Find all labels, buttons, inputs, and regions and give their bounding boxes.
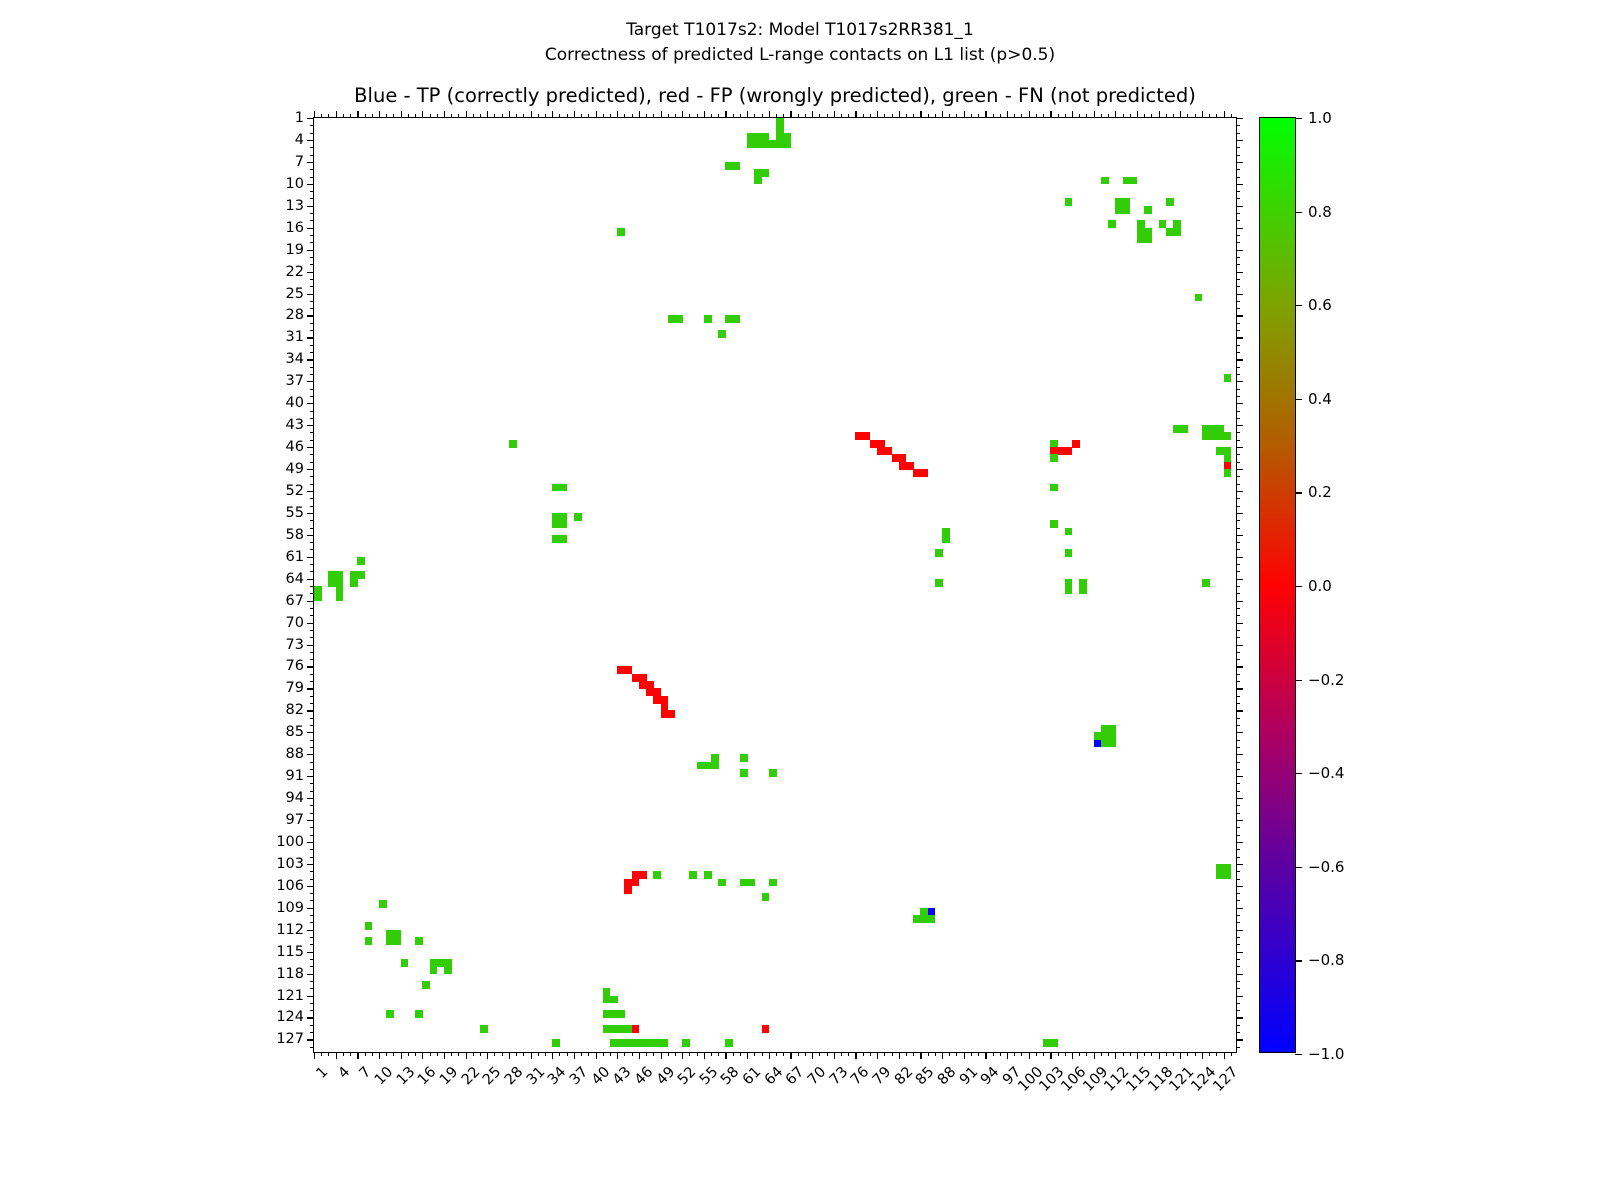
colorbar-tick-label: 0.4 — [1308, 390, 1332, 408]
heatmap-cell — [632, 879, 640, 887]
y-tick-label: 64 — [286, 571, 304, 587]
y-tick — [307, 842, 314, 843]
x-tick — [502, 1052, 503, 1056]
y-tick — [310, 1003, 314, 1004]
y-tick-right — [1236, 257, 1240, 258]
y-tick-right — [1236, 645, 1243, 646]
x-tick — [956, 1052, 957, 1056]
heatmap-cell — [365, 937, 373, 945]
y-tick-right — [1236, 981, 1240, 982]
heatmap-cell — [632, 1025, 640, 1033]
colorbar-tick — [1295, 680, 1302, 681]
heatmap-cell — [365, 922, 373, 930]
y-tick — [307, 118, 314, 119]
x-tick — [574, 1052, 575, 1059]
x-tick-top — [1101, 114, 1102, 118]
y-tick-right — [1236, 593, 1240, 594]
y-tick-label: 43 — [286, 417, 304, 433]
y-tick-right — [1236, 820, 1243, 821]
x-tick-top — [1058, 114, 1059, 118]
y-tick — [310, 659, 314, 660]
y-tick — [310, 177, 314, 178]
y-tick-label: 124 — [276, 1009, 304, 1025]
x-tick-top — [848, 114, 849, 118]
y-tick — [310, 133, 314, 134]
y-tick — [310, 257, 314, 258]
y-tick-right — [1236, 447, 1243, 448]
y-tick — [310, 703, 314, 704]
y-tick-label: 94 — [286, 790, 304, 806]
colorbar-tick — [1295, 399, 1302, 400]
heatmap-cell — [1050, 484, 1058, 492]
heatmap-cell — [769, 879, 777, 887]
y-tick — [310, 805, 314, 806]
x-tick-top — [740, 114, 741, 118]
y-tick — [307, 754, 314, 755]
x-tick — [928, 1052, 929, 1056]
heatmap-cell — [783, 140, 791, 148]
x-tick-top — [494, 114, 495, 118]
y-tick — [310, 849, 314, 850]
heatmap-cell — [1224, 374, 1232, 382]
y-tick — [310, 944, 314, 945]
heatmap-cell — [1224, 469, 1232, 477]
y-tick-right — [1236, 432, 1240, 433]
y-tick-right — [1236, 915, 1240, 916]
y-tick-right — [1236, 498, 1240, 499]
y-tick — [310, 235, 314, 236]
y-tick-right — [1236, 688, 1243, 689]
x-tick-top — [682, 111, 683, 118]
heatmap-cell — [689, 871, 697, 879]
y-tick-label: 19 — [286, 242, 304, 258]
y-tick-right — [1236, 330, 1240, 331]
y-tick — [307, 381, 314, 382]
x-tick-top — [1173, 114, 1174, 118]
heatmap-cell — [1065, 198, 1073, 206]
heatmap-cell — [1123, 206, 1131, 214]
x-tick-top — [379, 111, 380, 118]
x-tick-top — [1166, 114, 1167, 118]
y-tick-right — [1236, 922, 1240, 923]
x-tick — [314, 1052, 315, 1059]
y-tick — [307, 315, 314, 316]
heatmap-cell — [1144, 235, 1152, 243]
x-tick — [603, 1052, 604, 1056]
y-tick — [307, 184, 314, 185]
x-tick — [588, 1052, 589, 1056]
x-tick-top — [718, 114, 719, 118]
x-tick — [653, 1052, 654, 1056]
x-tick — [682, 1052, 683, 1059]
y-tick-label: 40 — [286, 395, 304, 411]
y-tick — [310, 1032, 314, 1033]
heatmap-cell — [415, 1010, 423, 1018]
heatmap-cell — [762, 1025, 770, 1033]
x-tick — [769, 1052, 770, 1059]
y-tick-label: 70 — [286, 615, 304, 631]
x-tick — [365, 1052, 366, 1056]
y-tick — [310, 696, 314, 697]
y-tick — [310, 242, 314, 243]
y-tick-right — [1236, 974, 1243, 975]
heatmap-cell — [1050, 1039, 1058, 1047]
x-tick — [1094, 1052, 1095, 1059]
x-tick — [935, 1052, 936, 1056]
x-tick — [1079, 1052, 1080, 1056]
y-tick-label: 109 — [276, 900, 304, 916]
y-tick-right — [1236, 1017, 1243, 1018]
x-tick — [740, 1052, 741, 1056]
x-tick-top — [523, 114, 524, 118]
x-tick — [812, 1052, 813, 1059]
x-tick — [1209, 1052, 1210, 1056]
colorbar-tick-label: 0.0 — [1308, 577, 1332, 595]
y-tick — [310, 783, 314, 784]
heatmap-cell — [704, 315, 712, 323]
heatmap-cell — [769, 769, 777, 777]
x-tick — [624, 1052, 625, 1056]
y-tick — [307, 930, 314, 931]
x-tick — [559, 1052, 560, 1056]
y-tick-right — [1236, 469, 1243, 470]
x-tick-label: 88 — [935, 1064, 959, 1088]
x-tick — [1007, 1052, 1008, 1059]
y-tick-label: 13 — [286, 198, 304, 214]
y-tick-right — [1236, 681, 1240, 682]
y-tick-right — [1236, 871, 1240, 872]
x-tick-top — [1014, 114, 1015, 118]
x-tick — [718, 1052, 719, 1056]
y-tick-right — [1236, 542, 1240, 543]
y-tick — [307, 776, 314, 777]
x-tick — [1166, 1052, 1167, 1056]
x-tick-top — [516, 114, 517, 118]
x-tick — [1123, 1052, 1124, 1056]
y-tick-label: 67 — [286, 593, 304, 609]
heatmap-cell — [559, 520, 567, 528]
y-tick-right — [1236, 601, 1243, 602]
colorbar-tick-label: −0.6 — [1308, 858, 1344, 876]
y-tick-right — [1236, 1039, 1243, 1040]
x-tick-top — [689, 114, 690, 118]
y-tick-right — [1236, 725, 1240, 726]
colorbar-tick-label: 1.0 — [1308, 109, 1332, 127]
x-tick-top — [509, 111, 510, 118]
x-tick-top — [617, 111, 618, 118]
x-tick-top — [783, 114, 784, 118]
y-tick-label: 31 — [286, 329, 304, 345]
colorbar-tick — [1295, 960, 1302, 961]
y-tick — [307, 623, 314, 624]
y-tick-right — [1236, 754, 1243, 755]
heatmap-cell — [1065, 447, 1073, 455]
heatmap-cell — [653, 871, 661, 879]
y-tick-right — [1236, 615, 1240, 616]
y-tick-right — [1236, 557, 1243, 558]
y-tick — [310, 871, 314, 872]
x-tick-top — [870, 114, 871, 118]
heatmap-cell — [942, 535, 950, 543]
x-tick-top — [812, 111, 813, 118]
x-tick — [1216, 1052, 1217, 1056]
x-tick-top — [466, 111, 467, 118]
y-tick-right — [1236, 250, 1243, 251]
heatmap-cell — [1101, 177, 1109, 185]
heatmap-cell — [617, 228, 625, 236]
y-tick — [310, 988, 314, 989]
y-tick — [310, 937, 314, 938]
x-tick — [509, 1052, 510, 1059]
y-tick — [307, 272, 314, 273]
x-tick-top — [343, 114, 344, 118]
x-tick — [1144, 1052, 1145, 1056]
y-tick — [310, 396, 314, 397]
y-tick-right — [1236, 740, 1240, 741]
x-tick — [336, 1052, 337, 1059]
y-tick — [307, 974, 314, 975]
heatmap-cell — [422, 981, 430, 989]
y-tick — [310, 879, 314, 880]
y-tick-right — [1236, 937, 1240, 938]
x-tick — [372, 1052, 373, 1056]
x-tick — [841, 1052, 842, 1056]
x-tick-label: 127 — [1210, 1064, 1241, 1095]
y-tick-label: 61 — [286, 549, 304, 565]
x-tick-top — [531, 111, 532, 118]
heatmap-cell — [350, 579, 358, 587]
y-tick-label: 100 — [276, 834, 304, 850]
y-tick-right — [1236, 337, 1243, 338]
y-tick — [307, 469, 314, 470]
y-tick — [310, 264, 314, 265]
y-tick-right — [1236, 666, 1243, 667]
x-tick-top — [1195, 114, 1196, 118]
x-tick — [321, 1052, 322, 1056]
y-tick-label: 22 — [286, 264, 304, 280]
y-tick-label: 1 — [295, 110, 304, 126]
heatmap-cell — [762, 169, 770, 177]
y-tick-right — [1236, 637, 1240, 638]
y-tick-label: 91 — [286, 768, 304, 784]
x-tick — [581, 1052, 582, 1056]
heatmap-cell — [1224, 871, 1232, 879]
y-tick-right — [1236, 798, 1243, 799]
x-tick-top — [993, 114, 994, 118]
y-tick — [310, 330, 314, 331]
y-tick — [310, 279, 314, 280]
heatmap-cell — [415, 937, 423, 945]
x-tick — [379, 1052, 380, 1059]
x-tick — [444, 1052, 445, 1059]
y-tick-right — [1236, 528, 1240, 529]
x-tick-top — [956, 114, 957, 118]
y-tick-right — [1236, 579, 1243, 580]
y-tick-label: 82 — [286, 702, 304, 718]
x-tick — [596, 1052, 597, 1059]
y-tick — [310, 506, 314, 507]
x-tick — [1202, 1052, 1203, 1059]
colorbar-tick-label: −0.2 — [1308, 671, 1344, 689]
y-tick-right — [1236, 272, 1243, 273]
heatmap-cell — [740, 769, 748, 777]
x-tick-top — [769, 111, 770, 118]
y-tick-right — [1236, 849, 1240, 850]
x-tick — [697, 1052, 698, 1056]
y-tick-right — [1236, 549, 1240, 550]
x-tick-top — [697, 114, 698, 118]
x-tick — [1180, 1052, 1181, 1059]
x-tick-top — [408, 114, 409, 118]
x-tick — [993, 1052, 994, 1056]
y-tick — [307, 140, 314, 141]
y-tick — [310, 125, 314, 126]
x-tick — [1036, 1052, 1037, 1056]
heatmap-cell — [444, 966, 452, 974]
y-tick-right — [1236, 140, 1243, 141]
y-tick — [307, 337, 314, 338]
y-tick-right — [1236, 323, 1240, 324]
y-tick — [310, 191, 314, 192]
x-tick-top — [928, 114, 929, 118]
y-tick-right — [1236, 279, 1240, 280]
x-tick — [964, 1052, 965, 1059]
heatmap-cell — [682, 1039, 690, 1047]
y-tick — [310, 681, 314, 682]
y-tick-right — [1236, 506, 1240, 507]
colorbar-tick — [1295, 492, 1302, 493]
x-tick — [790, 1052, 791, 1059]
heatmap-cell — [1065, 549, 1073, 557]
y-tick — [307, 710, 314, 711]
colorbar-tick — [1295, 118, 1302, 119]
x-tick — [675, 1052, 676, 1056]
y-tick-label: 115 — [276, 944, 304, 960]
y-tick-label: 25 — [286, 286, 304, 302]
x-tick — [913, 1052, 914, 1056]
y-tick-right — [1236, 308, 1240, 309]
heatmap-cell — [379, 900, 387, 908]
colorbar-tick-label: −1.0 — [1308, 1045, 1344, 1063]
x-tick-top — [920, 111, 921, 118]
x-tick — [617, 1052, 618, 1059]
y-tick-label: 112 — [276, 922, 304, 938]
colorbar-tick — [1295, 867, 1302, 868]
x-tick-top — [458, 114, 459, 118]
y-tick-right — [1236, 571, 1240, 572]
y-tick-label: 46 — [286, 439, 304, 455]
x-tick — [328, 1052, 329, 1056]
y-tick-right — [1236, 367, 1240, 368]
y-tick — [310, 966, 314, 967]
y-tick-label: 73 — [286, 637, 304, 653]
x-tick — [1173, 1052, 1174, 1056]
x-tick-top — [538, 114, 539, 118]
y-tick-right — [1236, 835, 1240, 836]
y-tick-right — [1236, 813, 1240, 814]
y-tick-right — [1236, 359, 1243, 360]
y-tick — [307, 491, 314, 492]
y-tick — [310, 220, 314, 221]
contact-map-axes[interactable]: 1471013161922252831343740434649525558616… — [313, 117, 1237, 1053]
x-tick-label: 1 — [313, 1064, 331, 1082]
heatmap-cell — [357, 571, 365, 579]
y-tick-right — [1236, 235, 1240, 236]
y-tick — [310, 637, 314, 638]
y-tick — [310, 147, 314, 148]
x-tick-top — [1187, 114, 1188, 118]
x-tick-top — [415, 114, 416, 118]
x-tick — [451, 1052, 452, 1056]
y-tick-right — [1236, 1003, 1240, 1004]
x-tick-top — [350, 114, 351, 118]
x-tick-top — [711, 114, 712, 118]
y-tick — [307, 864, 314, 865]
y-tick-right — [1236, 703, 1240, 704]
y-tick — [310, 440, 314, 441]
heatmap-cell — [1079, 586, 1087, 594]
y-tick-right — [1236, 944, 1240, 945]
y-tick-right — [1236, 133, 1240, 134]
y-tick-right — [1236, 857, 1240, 858]
x-tick-top — [430, 114, 431, 118]
x-tick — [906, 1052, 907, 1056]
x-tick — [725, 1052, 726, 1059]
heatmap-cell — [711, 762, 719, 770]
x-tick-top — [704, 111, 705, 118]
x-tick — [892, 1052, 893, 1056]
x-tick — [458, 1052, 459, 1056]
colorbar-tick — [1295, 773, 1302, 774]
x-tick-label: 7 — [357, 1064, 375, 1082]
x-tick — [1137, 1052, 1138, 1059]
x-tick — [415, 1052, 416, 1056]
x-tick — [1187, 1052, 1188, 1056]
y-tick-right — [1236, 586, 1240, 587]
y-tick — [310, 893, 314, 894]
x-tick — [855, 1052, 856, 1059]
x-tick-top — [437, 114, 438, 118]
x-tick-top — [1202, 111, 1203, 118]
heatmap-cell — [935, 579, 943, 587]
x-tick-top — [639, 111, 640, 118]
y-tick-right — [1236, 476, 1240, 477]
x-tick-label: 28 — [502, 1064, 526, 1088]
y-tick — [310, 1025, 314, 1026]
x-tick — [408, 1052, 409, 1056]
x-tick-top — [1007, 111, 1008, 118]
x-tick — [567, 1052, 568, 1056]
y-tick-right — [1236, 900, 1240, 901]
y-tick-right — [1236, 630, 1240, 631]
y-tick-label: 127 — [276, 1031, 304, 1047]
x-tick-top — [1086, 114, 1087, 118]
y-tick-right — [1236, 228, 1243, 229]
y-tick-right — [1236, 462, 1240, 463]
colorbar-tick — [1295, 212, 1302, 213]
x-tick-top — [971, 114, 972, 118]
heatmap-cell — [610, 996, 618, 1004]
x-tick — [552, 1052, 553, 1059]
y-tick — [310, 615, 314, 616]
y-tick — [307, 579, 314, 580]
x-tick-top — [805, 114, 806, 118]
x-tick-top — [1000, 114, 1001, 118]
heatmap-cell — [718, 879, 726, 887]
y-tick-right — [1236, 206, 1243, 207]
x-tick-top — [884, 114, 885, 118]
x-tick-top — [451, 114, 452, 118]
